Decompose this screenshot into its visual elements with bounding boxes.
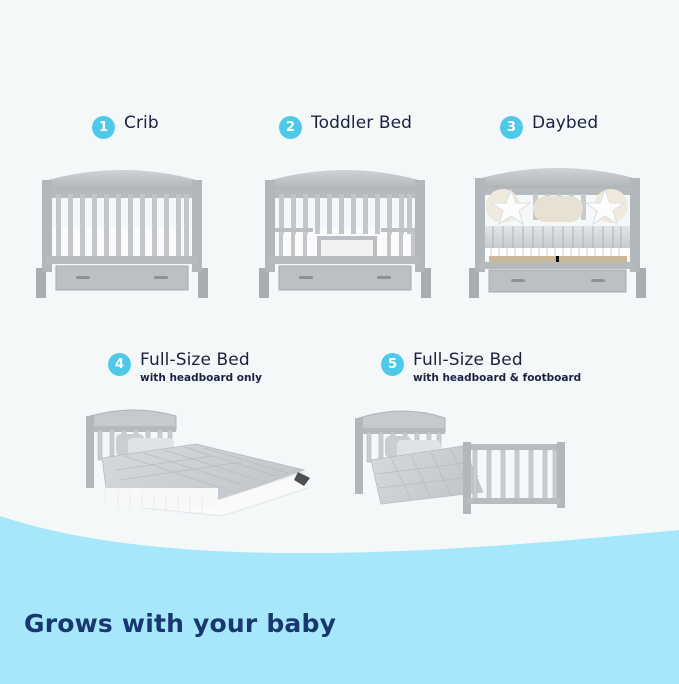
config-label-2: 2 Toddler Bed bbox=[279, 115, 412, 139]
config-subtitle-4: with headboard only bbox=[140, 373, 262, 384]
step-badge-4: 4 bbox=[108, 353, 131, 376]
config-title-5: Full-Size Bed bbox=[413, 352, 581, 370]
config-title-3: Daybed bbox=[532, 115, 598, 133]
banner-title: Grows with your baby bbox=[24, 609, 336, 638]
config-title-4: Full-Size Bed bbox=[140, 352, 262, 370]
config-label-1: 1 Crib bbox=[92, 115, 159, 139]
step-badge-1: 1 bbox=[92, 116, 115, 139]
config-title-2: Toddler Bed bbox=[311, 115, 412, 133]
config-label-4: 4 Full-Size Bed with headboard only bbox=[108, 352, 262, 384]
step-badge-5: 5 bbox=[381, 353, 404, 376]
crib-illustration bbox=[22, 150, 222, 305]
config-subtitle-5: with headboard & footboard bbox=[413, 373, 581, 384]
config-label-text-5: Full-Size Bed with headboard & footboard bbox=[413, 352, 581, 384]
full-size-bed-headboard-footboard-illustration bbox=[345, 396, 595, 526]
config-title-1: Crib bbox=[124, 115, 159, 133]
config-label-3: 3 Daybed bbox=[500, 115, 598, 139]
config-label-text-1: Crib bbox=[124, 115, 159, 133]
config-label-5: 5 Full-Size Bed with headboard & footboa… bbox=[381, 352, 581, 384]
infographic-root: Grows with your baby 1 Crib 2 Toddler Be… bbox=[0, 0, 679, 684]
step-badge-2: 2 bbox=[279, 116, 302, 139]
config-label-text-4: Full-Size Bed with headboard only bbox=[140, 352, 262, 384]
full-size-bed-headboard-illustration bbox=[72, 396, 322, 521]
toddler-bed-illustration bbox=[245, 150, 445, 305]
config-label-text-3: Daybed bbox=[532, 115, 598, 133]
config-label-text-2: Toddler Bed bbox=[311, 115, 412, 133]
step-badge-3: 3 bbox=[500, 116, 523, 139]
daybed-illustration bbox=[455, 150, 660, 305]
